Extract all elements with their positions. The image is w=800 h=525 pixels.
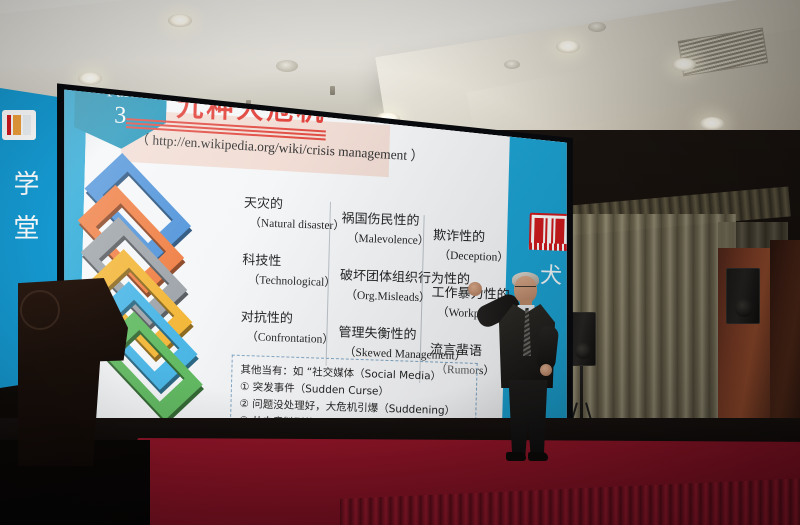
ceiling-downlight bbox=[556, 40, 580, 53]
crisis-column-1: 天灾的 （Natural disaster） 科技性 （Technologica… bbox=[239, 197, 345, 371]
presenter-raised-hand bbox=[468, 282, 482, 296]
left-banner-logo-icon bbox=[2, 110, 36, 140]
crisis-cn: 天灾的 bbox=[244, 197, 346, 215]
crisis-en: （Natural disaster） bbox=[243, 214, 345, 233]
presenter-legs bbox=[506, 380, 550, 456]
podium bbox=[18, 278, 140, 463]
crisis-cn: 对抗性的 bbox=[241, 311, 343, 329]
crisis-entry: 欺诈性的 （Deception） bbox=[432, 229, 511, 265]
presenter-lower-hand bbox=[540, 364, 552, 376]
presenter-shoe bbox=[528, 452, 548, 461]
speaker-cone bbox=[735, 299, 753, 317]
crisis-entry: 天灾的 （Natural disaster） bbox=[243, 197, 345, 233]
photo-scene: 学堂 犬 Part 3 bbox=[0, 0, 800, 525]
crisis-entry: 对抗性的 （Confrontation） bbox=[240, 311, 342, 347]
crisis-cn: 科技性 bbox=[242, 254, 344, 272]
crisis-en: （Technological） bbox=[242, 271, 344, 290]
ceiling-downlight bbox=[168, 14, 192, 27]
loudspeaker bbox=[726, 268, 760, 324]
crisis-cn: 欺诈性的 bbox=[433, 229, 512, 247]
ceiling-downlight bbox=[672, 58, 696, 71]
presenter-shoe bbox=[506, 452, 526, 461]
presenter bbox=[470, 268, 590, 464]
backdrop-logo-icon bbox=[529, 213, 570, 250]
left-banner-text: 学堂 bbox=[6, 170, 43, 258]
ceiling-speaker-grille bbox=[588, 22, 606, 32]
wood-column bbox=[770, 240, 800, 430]
ceiling-downlight bbox=[700, 117, 724, 130]
crisis-entry: 科技性 （Technological） bbox=[242, 254, 344, 290]
crisis-en: （Deception） bbox=[432, 246, 511, 265]
podium-emblem bbox=[20, 290, 60, 330]
crisis-en: （Confrontation） bbox=[240, 328, 342, 347]
glasses-icon bbox=[515, 286, 536, 291]
